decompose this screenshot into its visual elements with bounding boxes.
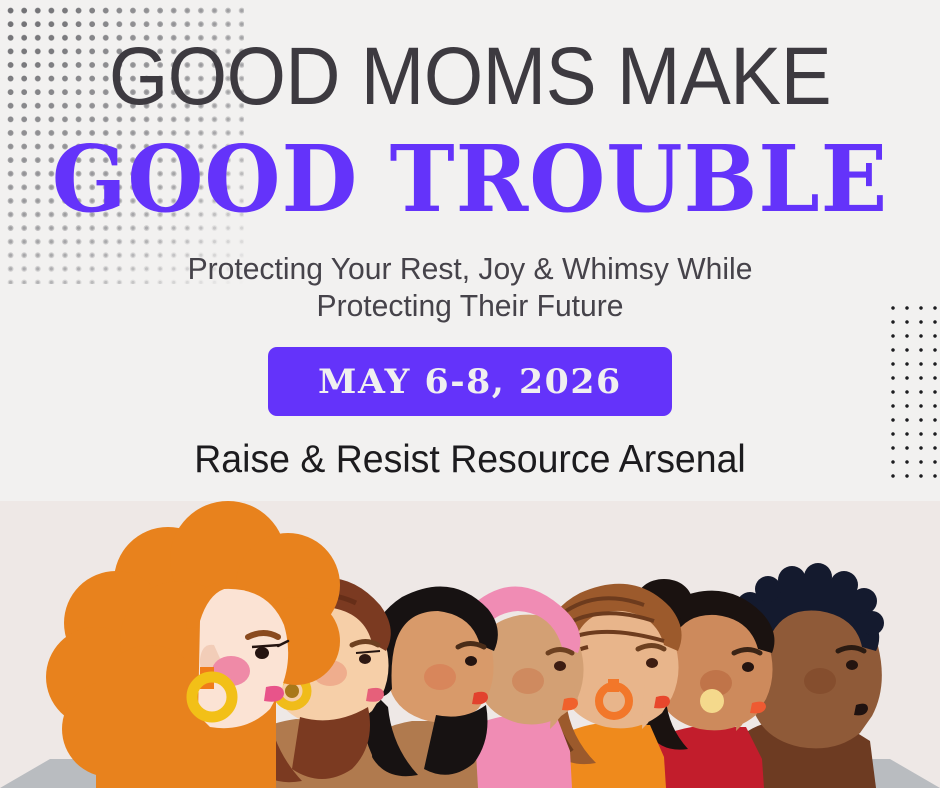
subtitle: Protecting Your Rest, Joy & Whimsy While… — [131, 250, 810, 324]
date-badge-label: MAY 6-8, 2026 — [318, 362, 622, 402]
illustration-panel — [0, 501, 940, 788]
date-badge: MAY 6-8, 2026 — [268, 347, 672, 416]
poster-canvas: GOOD MOMS MAKE GOOD TROUBLE Protecting Y… — [0, 0, 940, 788]
poster-header: GOOD MOMS MAKE GOOD TROUBLE Protecting Y… — [0, 0, 940, 501]
page-title-line-2: GOOD TROUBLE — [24, 133, 917, 225]
page-title-line-1: GOOD MOMS MAKE — [33, 36, 907, 118]
seven-women-in-profile-illustration — [0, 501, 940, 788]
tagline: Raise & Resist Resource Arsenal — [19, 437, 921, 483]
